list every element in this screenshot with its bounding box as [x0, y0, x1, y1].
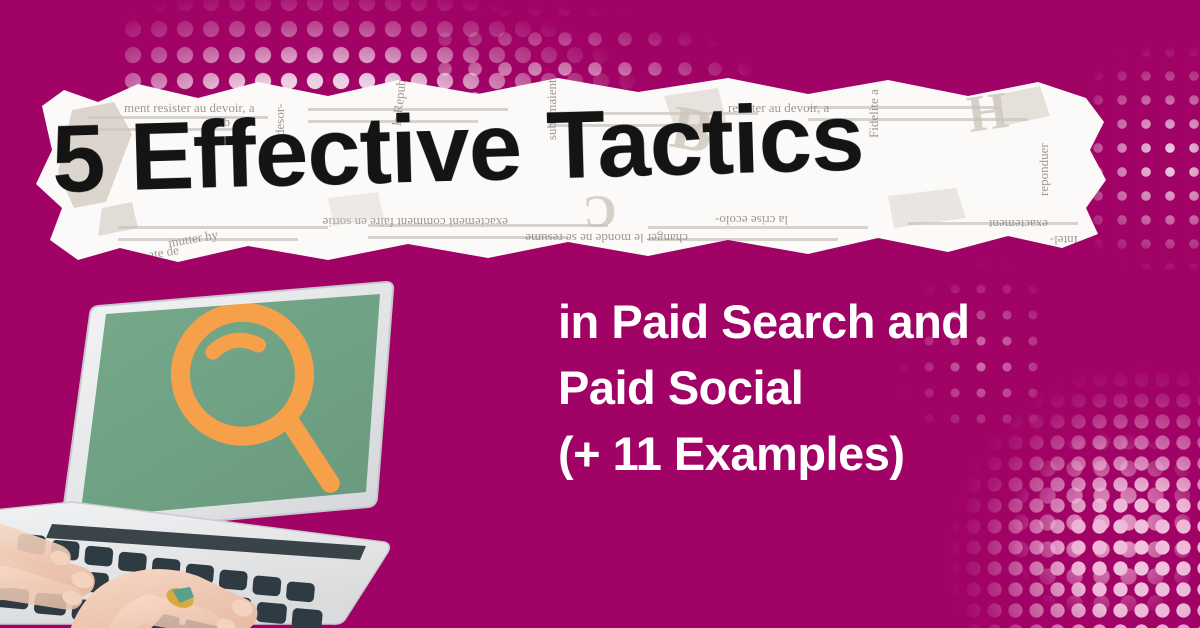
subtitle-line-1: in Paid Search and — [558, 289, 1098, 355]
svg-text:la crise ecolo-: la crise ecolo- — [715, 213, 788, 228]
subtitle-line-3: (+ 11 Examples) — [558, 421, 1098, 487]
svg-text:Intel-: Intel- — [1050, 233, 1078, 248]
svg-text:exactement: exactement — [988, 217, 1048, 232]
hands-typing-on-laptop-photo — [0, 246, 414, 628]
subtitle-line-2: Paid Social — [558, 355, 1098, 421]
hero-banner-canvas: ment resister au devoir, a que la Republ… — [0, 0, 1200, 628]
subtitle: in Paid Search and Paid Social (+ 11 Exa… — [558, 289, 1098, 487]
